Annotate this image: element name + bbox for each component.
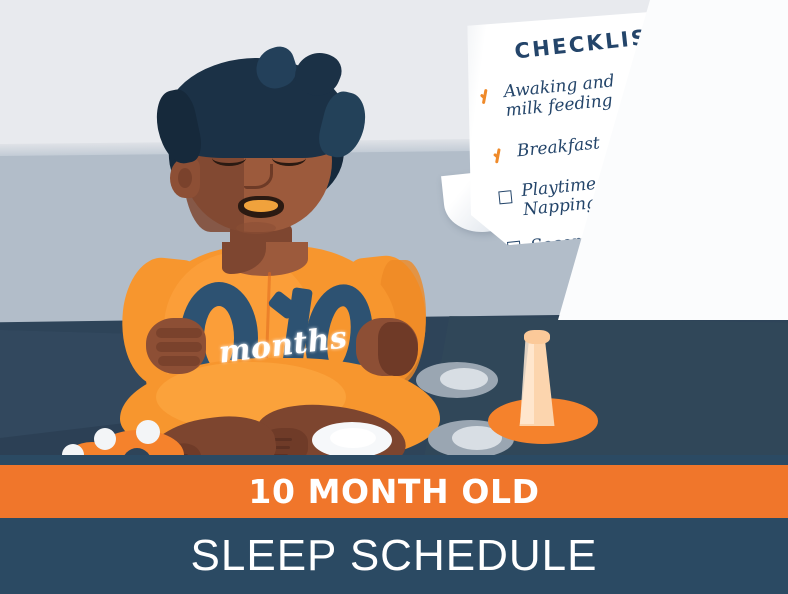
toy-bead bbox=[94, 428, 116, 450]
toy-disc-white-highlight bbox=[330, 428, 376, 448]
illustration-canvas: months bbox=[0, 0, 788, 594]
toy-cone-cap bbox=[524, 330, 550, 344]
check-icon bbox=[491, 147, 508, 164]
banner-primary: 10 MONTH OLD bbox=[0, 465, 788, 518]
empty-checkbox-icon bbox=[498, 190, 512, 204]
banner-primary-text: 10 MONTH OLD bbox=[248, 472, 539, 511]
checklist-item-label: Awaking and milk feeding bbox=[503, 72, 617, 121]
baby-hand-right-shade bbox=[378, 322, 418, 376]
baby-finger bbox=[156, 328, 202, 338]
check-icon bbox=[478, 88, 495, 105]
banner-secondary-text: SLEEP SCHEDULE bbox=[191, 531, 598, 581]
checklist-item-label: Breakfast bbox=[516, 134, 601, 161]
toy-cone-highlight bbox=[520, 336, 534, 424]
banner-divider bbox=[0, 455, 788, 465]
baby-tongue bbox=[244, 200, 278, 212]
toy-stacking-ring bbox=[470, 330, 600, 450]
baby-eye-left bbox=[212, 150, 246, 166]
baby-eye-right bbox=[272, 150, 306, 166]
empty-checkbox-icon bbox=[507, 241, 521, 254]
toy-bead bbox=[136, 420, 160, 444]
baby-chin bbox=[236, 222, 276, 234]
baby-figure: months bbox=[60, 46, 460, 466]
banner-secondary: SLEEP SCHEDULE bbox=[0, 518, 788, 594]
baby-ear-inner bbox=[178, 168, 192, 188]
